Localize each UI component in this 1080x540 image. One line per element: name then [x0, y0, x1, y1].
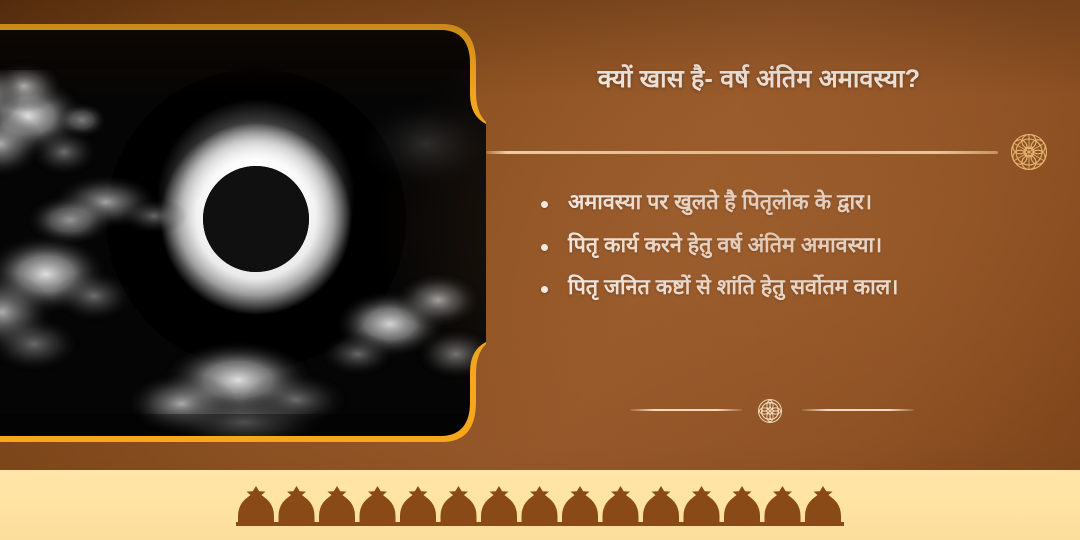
- bullet-dot-icon: [541, 286, 548, 293]
- bottom-band: [0, 470, 1080, 540]
- ornamental-divider: [620, 392, 920, 428]
- photo-frame: [0, 24, 486, 448]
- title-underline-rule: [486, 151, 998, 154]
- list-item: अमावस्या पर खुलते है पितृलोक के द्वार।: [532, 192, 1062, 214]
- rosette-icon: [752, 393, 788, 429]
- list-item: पितृ कार्य करने हेतु वर्ष अंतिम अमावस्या…: [532, 235, 1062, 257]
- list-item-text: पितृ जनित कष्टों से शांति हेतु सर्वोतम क…: [568, 275, 898, 299]
- bullet-dot-icon: [541, 244, 548, 251]
- temple-dome-icon: [236, 486, 844, 526]
- page-title: क्यों खास है- वर्ष अंतिम अमावस्या?: [524, 64, 994, 95]
- divider-line-left: [630, 409, 742, 411]
- divider-line-right: [802, 409, 914, 411]
- list-item-text: पितृ कार्य करने हेतु वर्ष अंतिम अमावस्या…: [568, 233, 882, 257]
- bullet-list: अमावस्या पर खुलते है पितृलोक के द्वार। प…: [532, 192, 1062, 320]
- rosette-icon: [1002, 125, 1056, 179]
- photo-image: [0, 24, 486, 448]
- poster-canvas: क्यों खास है- वर्ष अंतिम अमावस्या?: [0, 0, 1080, 540]
- bullet-dot-icon: [541, 201, 548, 208]
- content-column: क्यों खास है- वर्ष अंतिम अमावस्या?: [508, 0, 1080, 470]
- list-item: पितृ जनित कष्टों से शांति हेतु सर्वोतम क…: [532, 277, 1062, 299]
- list-item-text: अमावस्या पर खुलते है पितृलोक के द्वार।: [568, 190, 872, 214]
